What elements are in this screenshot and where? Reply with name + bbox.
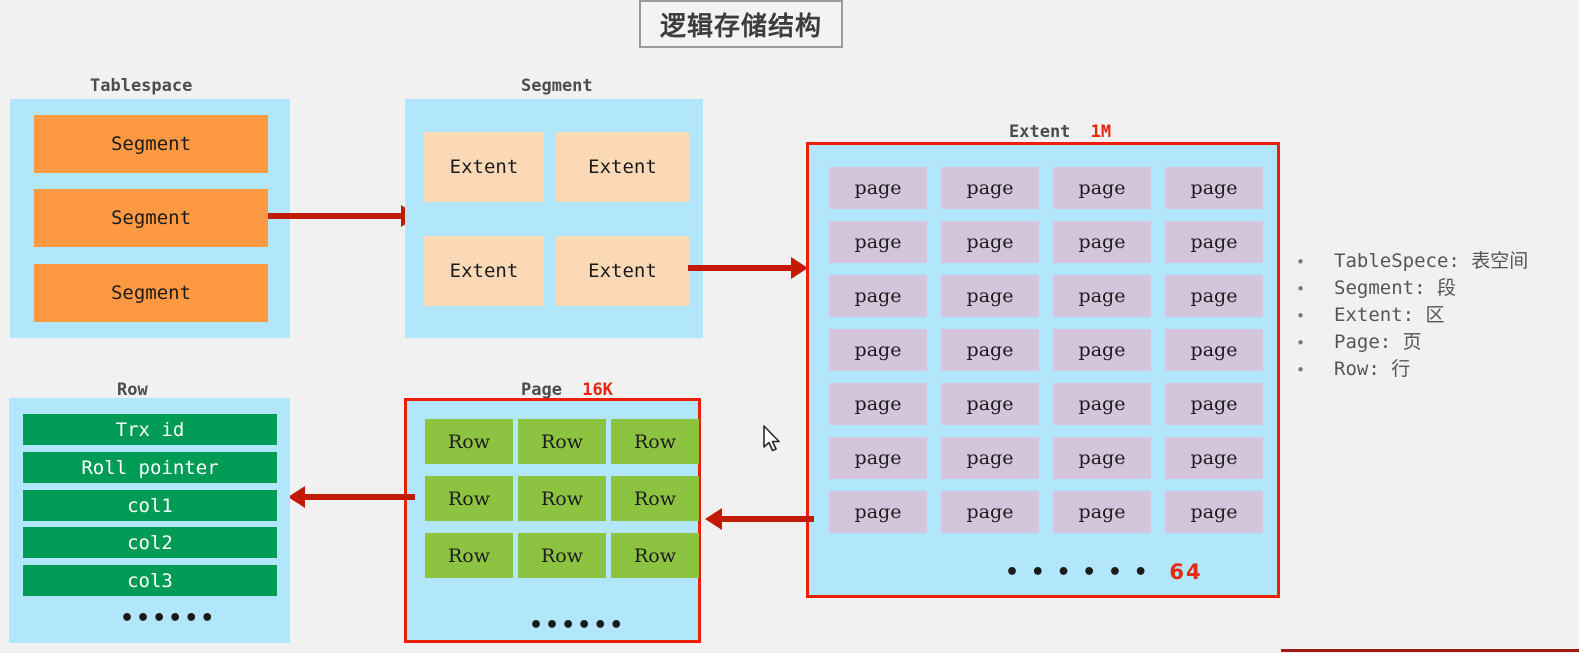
segment-extent-1-label: Extent bbox=[588, 156, 657, 178]
extent-page-16-label: page bbox=[855, 393, 902, 415]
page-row-1-label: Row bbox=[541, 431, 583, 453]
extent-caption: Extent 1M bbox=[1009, 122, 1111, 142]
segment-extent-2[interactable]: Extent bbox=[424, 236, 544, 306]
extent-page-24-label: page bbox=[855, 501, 902, 523]
page-row-0-label: Row bbox=[448, 431, 490, 453]
row-container: Trx idRoll pointercol1col2col3 •••••• bbox=[9, 398, 290, 643]
legend-bullet-icon: • bbox=[1296, 249, 1334, 275]
extent-page-25-label: page bbox=[967, 501, 1014, 523]
extent-page-22[interactable]: page bbox=[1053, 437, 1151, 479]
tablespace-segment-1[interactable]: Segment bbox=[34, 189, 268, 247]
legend-bullet-icon: • bbox=[1296, 357, 1334, 383]
arrow-line bbox=[305, 494, 415, 500]
legend-item-3-label: Page: 页 bbox=[1334, 329, 1422, 355]
page-row-8[interactable]: Row bbox=[611, 533, 699, 578]
page-row-grid: RowRowRowRowRowRowRowRowRow bbox=[425, 419, 699, 578]
arrow-head-left-icon bbox=[705, 508, 722, 530]
row-field-3[interactable]: col2 bbox=[23, 527, 277, 558]
row-field-3-label: col2 bbox=[127, 532, 173, 554]
legend-item-0: •TableSpece: 表空间 bbox=[1296, 248, 1579, 275]
tablespace-container: Segment Segment Segment bbox=[10, 99, 290, 338]
extent-page-14[interactable]: page bbox=[1053, 329, 1151, 371]
extent-page-6-label: page bbox=[1079, 231, 1126, 253]
extent-total-count: 64 bbox=[1169, 560, 1202, 584]
row-field-2-label: col1 bbox=[127, 495, 173, 517]
extent-page-1[interactable]: page bbox=[941, 167, 1039, 209]
page-row-6[interactable]: Row bbox=[425, 533, 513, 578]
extent-page-6[interactable]: page bbox=[1053, 221, 1151, 263]
extent-page-9[interactable]: page bbox=[941, 275, 1039, 317]
segment-extent-0-label: Extent bbox=[450, 156, 519, 178]
extent-caption-label: Extent bbox=[1009, 122, 1070, 142]
tablespace-segment-2-label: Segment bbox=[111, 282, 191, 304]
row-field-0[interactable]: Trx id bbox=[23, 414, 277, 445]
extent-page-27[interactable]: page bbox=[1165, 491, 1263, 533]
page-ellipsis: •••••• bbox=[529, 613, 625, 638]
extent-page-8-label: page bbox=[855, 285, 902, 307]
page-row-1[interactable]: Row bbox=[518, 419, 606, 464]
segment-extent-0[interactable]: Extent bbox=[424, 132, 544, 202]
extent-ellipsis: • • • • • • 64 bbox=[1005, 560, 1203, 585]
extent-container: pagepagepagepagepagepagepagepagepagepage… bbox=[806, 142, 1280, 598]
tablespace-segment-2[interactable]: Segment bbox=[34, 264, 268, 322]
page-row-3[interactable]: Row bbox=[425, 476, 513, 521]
extent-page-4[interactable]: page bbox=[829, 221, 927, 263]
page-size-label: 16K bbox=[582, 380, 613, 400]
diagram-canvas: 逻辑存储结构 Tablespace Segment Segment Segmen… bbox=[0, 0, 1579, 653]
legend-item-2: •Extent: 区 bbox=[1296, 302, 1579, 329]
legend-item-1-label: Segment: 段 bbox=[1334, 275, 1456, 301]
extent-page-17[interactable]: page bbox=[941, 383, 1039, 425]
row-ellipsis-dots: •••••• bbox=[120, 606, 216, 631]
arrow-line bbox=[722, 516, 814, 522]
legend-item-0-label: TableSpece: 表空间 bbox=[1334, 248, 1528, 274]
row-field-2[interactable]: col1 bbox=[23, 490, 277, 521]
extent-page-3-label: page bbox=[1191, 177, 1238, 199]
mouse-cursor-icon bbox=[762, 425, 784, 453]
extent-page-20-label: page bbox=[855, 447, 902, 469]
row-field-4[interactable]: col3 bbox=[23, 565, 277, 596]
page-row-5[interactable]: Row bbox=[611, 476, 699, 521]
extent-page-2-label: page bbox=[1079, 177, 1126, 199]
extent-page-1-label: page bbox=[967, 177, 1014, 199]
page-section-caption: Page 16K bbox=[521, 380, 613, 400]
extent-page-24[interactable]: page bbox=[829, 491, 927, 533]
extent-page-22-label: page bbox=[1079, 447, 1126, 469]
extent-size-label: 1M bbox=[1091, 122, 1111, 142]
arrow-head-left-icon bbox=[288, 486, 305, 508]
extent-page-grid: pagepagepagepagepagepagepagepagepagepage… bbox=[829, 167, 1263, 533]
extent-page-7[interactable]: page bbox=[1165, 221, 1263, 263]
legend-bullet-icon: • bbox=[1296, 303, 1334, 329]
page-row-4[interactable]: Row bbox=[518, 476, 606, 521]
extent-page-26[interactable]: page bbox=[1053, 491, 1151, 533]
tablespace-segment-1-label: Segment bbox=[111, 207, 191, 229]
page-row-8-label: Row bbox=[634, 545, 676, 567]
page-container: RowRowRowRowRowRowRowRowRow •••••• bbox=[404, 398, 701, 643]
extent-page-27-label: page bbox=[1191, 501, 1238, 523]
extent-page-18[interactable]: page bbox=[1053, 383, 1151, 425]
segment-caption: Segment bbox=[521, 76, 593, 96]
extent-page-16[interactable]: page bbox=[829, 383, 927, 425]
segment-extent-3-label: Extent bbox=[588, 260, 657, 282]
row-caption: Row bbox=[117, 380, 148, 400]
extent-page-11[interactable]: page bbox=[1165, 275, 1263, 317]
page-row-4-label: Row bbox=[541, 488, 583, 510]
segment-extent-2-label: Extent bbox=[450, 260, 519, 282]
legend-item-4-label: Row: 行 bbox=[1334, 356, 1410, 382]
extent-page-15-label: page bbox=[1191, 339, 1238, 361]
tablespace-caption-label: Tablespace bbox=[90, 76, 192, 96]
extent-page-7-label: page bbox=[1191, 231, 1238, 253]
extent-page-5[interactable]: page bbox=[941, 221, 1039, 263]
extent-page-17-label: page bbox=[967, 393, 1014, 415]
page-row-6-label: Row bbox=[448, 545, 490, 567]
tablespace-caption: Tablespace bbox=[90, 76, 192, 96]
extent-page-5-label: page bbox=[967, 231, 1014, 253]
extent-page-14-label: page bbox=[1079, 339, 1126, 361]
row-field-4-label: col3 bbox=[127, 570, 173, 592]
bottom-rule bbox=[1281, 649, 1579, 652]
page-row-3-label: Row bbox=[448, 488, 490, 510]
extent-page-12-label: page bbox=[855, 339, 902, 361]
extent-page-18-label: page bbox=[1079, 393, 1126, 415]
extent-page-23[interactable]: page bbox=[1165, 437, 1263, 479]
extent-page-23-label: page bbox=[1191, 447, 1238, 469]
extent-page-21-label: page bbox=[967, 447, 1014, 469]
extent-page-21[interactable]: page bbox=[941, 437, 1039, 479]
page-row-0[interactable]: Row bbox=[425, 419, 513, 464]
tablespace-segment-0-label: Segment bbox=[111, 133, 191, 155]
segment-container: Extent Extent Extent Extent bbox=[405, 99, 703, 338]
legend-bullet-icon: • bbox=[1296, 330, 1334, 356]
page-caption-label: Page bbox=[521, 380, 562, 400]
arrow-line bbox=[268, 213, 403, 219]
extent-page-13[interactable]: page bbox=[941, 329, 1039, 371]
extent-page-10-label: page bbox=[1079, 285, 1126, 307]
legend-item-2-label: Extent: 区 bbox=[1334, 302, 1445, 328]
extent-page-10[interactable]: page bbox=[1053, 275, 1151, 317]
page-row-7-label: Row bbox=[541, 545, 583, 567]
extent-page-20[interactable]: page bbox=[829, 437, 927, 479]
extent-page-25[interactable]: page bbox=[941, 491, 1039, 533]
extent-page-19-label: page bbox=[1191, 393, 1238, 415]
extent-page-15[interactable]: page bbox=[1165, 329, 1263, 371]
segment-extent-1[interactable]: Extent bbox=[556, 132, 689, 202]
legend-item-1: •Segment: 段 bbox=[1296, 275, 1579, 302]
extent-page-0-label: page bbox=[855, 177, 902, 199]
legend-item-4: •Row: 行 bbox=[1296, 356, 1579, 383]
row-caption-label: Row bbox=[117, 380, 148, 400]
page-ellipsis-dots: •••••• bbox=[529, 613, 625, 638]
segment-extent-3[interactable]: Extent bbox=[556, 236, 689, 306]
page-row-2[interactable]: Row bbox=[611, 419, 699, 464]
tablespace-segment-0[interactable]: Segment bbox=[34, 115, 268, 173]
page-row-5-label: Row bbox=[634, 488, 676, 510]
extent-page-19[interactable]: page bbox=[1165, 383, 1263, 425]
extent-page-11-label: page bbox=[1191, 285, 1238, 307]
arrow-line bbox=[688, 265, 793, 271]
page-row-7[interactable]: Row bbox=[518, 533, 606, 578]
extent-page-8[interactable]: page bbox=[829, 275, 927, 317]
extent-ellipsis-dots: • • • • • • bbox=[1005, 560, 1150, 585]
segment-caption-label: Segment bbox=[521, 76, 593, 96]
page-title: 逻辑存储结构 bbox=[639, 0, 843, 48]
row-field-1-label: Roll pointer bbox=[81, 457, 218, 479]
extent-page-4-label: page bbox=[855, 231, 902, 253]
extent-page-26-label: page bbox=[1079, 501, 1126, 523]
legend-bullet-icon: • bbox=[1296, 276, 1334, 302]
page-row-2-label: Row bbox=[634, 431, 676, 453]
row-field-1[interactable]: Roll pointer bbox=[23, 452, 277, 483]
extent-page-13-label: page bbox=[967, 339, 1014, 361]
legend-item-3: •Page: 页 bbox=[1296, 329, 1579, 356]
extent-page-2[interactable]: page bbox=[1053, 167, 1151, 209]
row-field-0-label: Trx id bbox=[116, 419, 185, 441]
legend-list: •TableSpece: 表空间•Segment: 段•Extent: 区•Pa… bbox=[1296, 248, 1579, 383]
row-ellipsis: •••••• bbox=[120, 606, 216, 631]
extent-page-9-label: page bbox=[967, 285, 1014, 307]
extent-page-3[interactable]: page bbox=[1165, 167, 1263, 209]
extent-page-12[interactable]: page bbox=[829, 329, 927, 371]
extent-page-0[interactable]: page bbox=[829, 167, 927, 209]
